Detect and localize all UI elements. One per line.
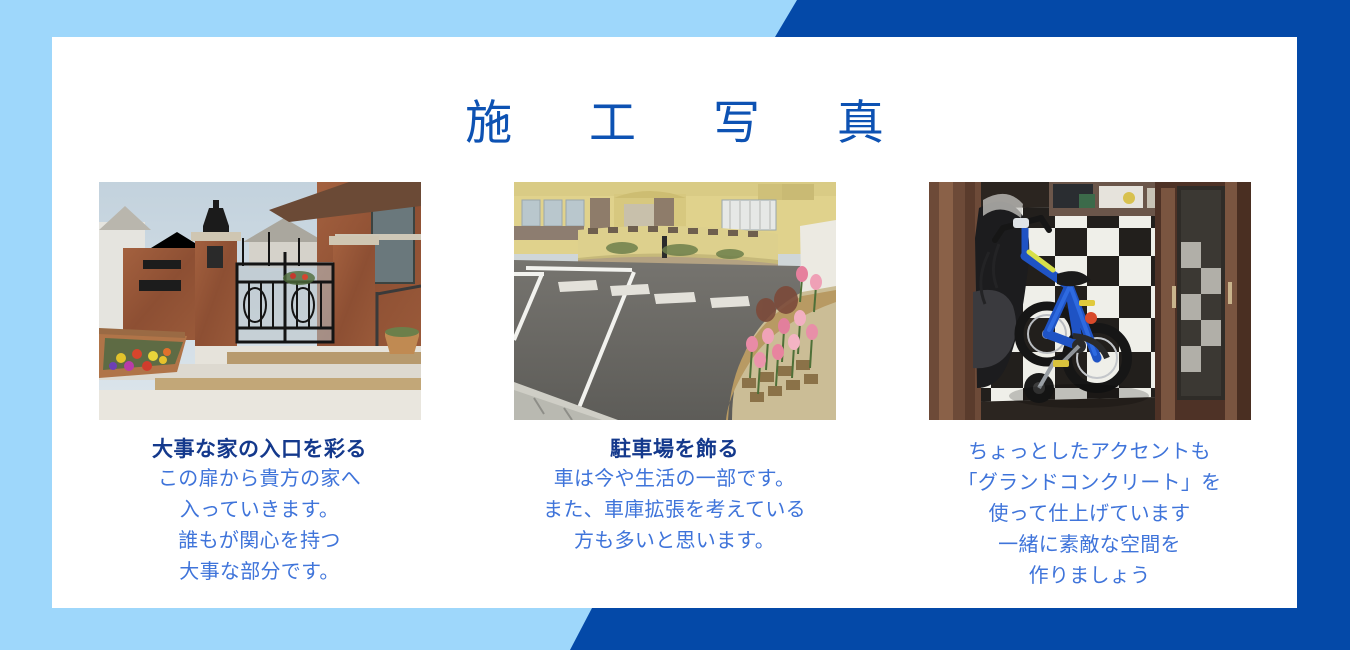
caption-line: また、車庫拡張を考えている xyxy=(495,494,855,525)
caption-body: 車は今や生活の一部です。 また、車庫拡張を考えている 方も多いと思います。 xyxy=(495,463,855,556)
photo-card: 駐車場を飾る 車は今や生活の一部です。 また、車庫拡張を考えている 方も多いと思… xyxy=(467,182,882,591)
photo-card: ちょっとしたアクセントも 「グランドコンクリート」を 使って仕上げています 一緒… xyxy=(882,182,1297,591)
caption-line: 使って仕上げています xyxy=(910,498,1270,529)
caption-line: この扉から貴方の家へ xyxy=(80,463,440,494)
photo-caption: 駐車場を飾る 車は今や生活の一部です。 また、車庫拡張を考えている 方も多いと思… xyxy=(495,436,855,556)
caption-body: この扉から貴方の家へ 入っていきます。 誰もが関心を持つ 大事な部分です。 xyxy=(80,463,440,587)
caption-line: 方も多いと思います。 xyxy=(495,525,855,556)
caption-heading: ちょっとしたアクセントも xyxy=(910,436,1270,467)
caption-line: 一緒に素敵な空間を xyxy=(910,529,1270,560)
photo-caption: 大事な家の入口を彩る この扉から貴方の家へ 入っていきます。 誰もが関心を持つ … xyxy=(80,436,440,587)
slide-root: 施 工 写 真 xyxy=(0,0,1350,650)
caption-heading: 大事な家の入口を彩る xyxy=(80,436,440,463)
caption-line: 大事な部分です。 xyxy=(80,556,440,587)
brick-entrance-gate-photo xyxy=(99,182,421,420)
caption-body: ちょっとしたアクセントも 「グランドコンクリート」を 使って仕上げています 一緒… xyxy=(910,436,1270,591)
background-dark-blue-right-band xyxy=(1297,0,1350,650)
caption-line: 作りましょう xyxy=(910,560,1270,591)
caption-line: 車は今や生活の一部です。 xyxy=(495,463,855,494)
caption-line: 「グランドコンクリート」を xyxy=(910,467,1270,498)
photo-card: 大事な家の入口を彩る この扉から貴方の家へ 入っていきます。 誰もが関心を持つ … xyxy=(52,182,467,591)
page-title: 施 工 写 真 xyxy=(52,98,1297,150)
caption-line: 誰もが関心を持つ xyxy=(80,525,440,556)
parking-lot-flowerbed-photo xyxy=(514,182,836,420)
garage-checkered-floor-bicycle-photo xyxy=(929,182,1251,420)
caption-heading: 駐車場を飾る xyxy=(495,436,855,463)
photo-caption: ちょっとしたアクセントも 「グランドコンクリート」を 使って仕上げています 一緒… xyxy=(910,436,1270,591)
caption-line: 入っていきます。 xyxy=(80,494,440,525)
photo-card-list: 大事な家の入口を彩る この扉から貴方の家へ 入っていきます。 誰もが関心を持つ … xyxy=(52,182,1297,591)
